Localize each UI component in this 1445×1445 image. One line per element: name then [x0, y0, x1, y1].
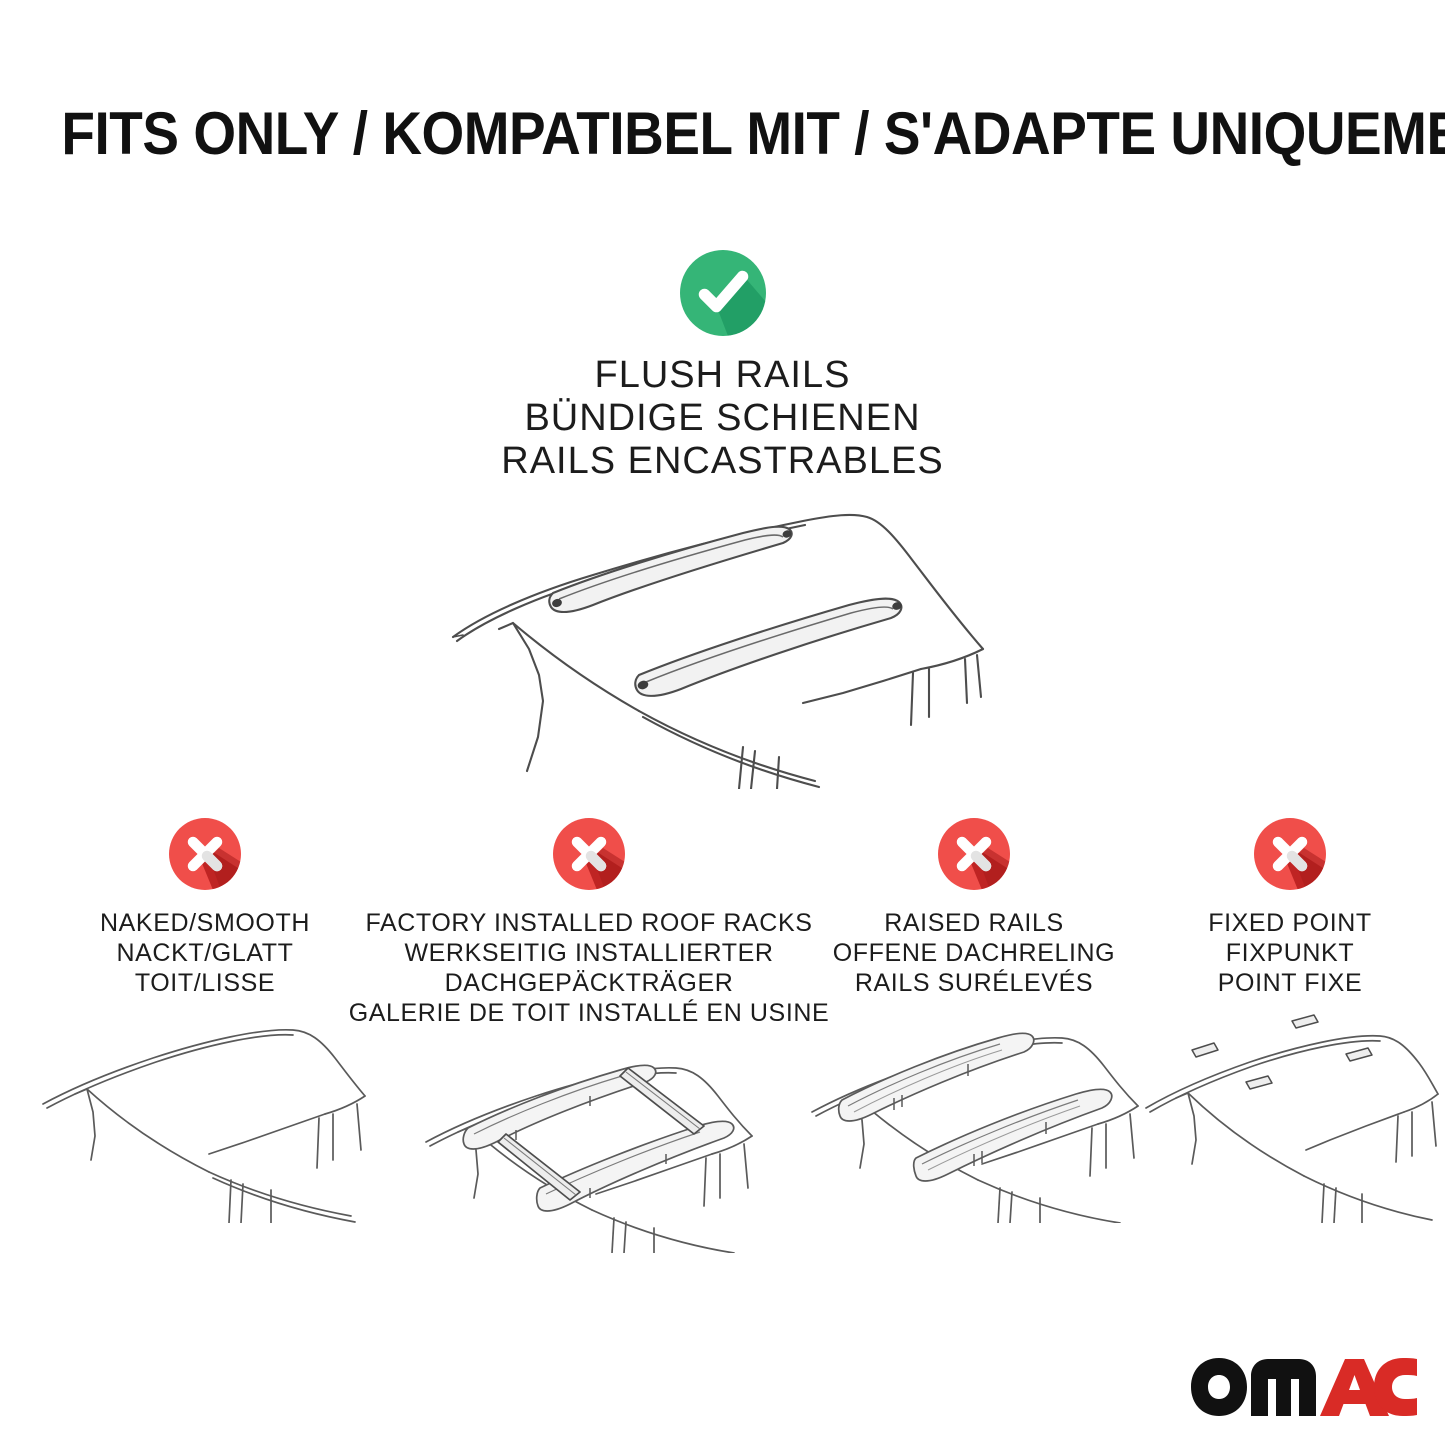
label-line-2: NACKT/GLATT [100, 938, 310, 968]
compatible-label-line-3: RAILS ENCASTRABLES [501, 440, 943, 483]
incompatible-item-raised-rails: RAISED RAILS OFFENE DACHRELING RAILS SUR… [804, 818, 1144, 1223]
compatible-label-line-2: BÜNDIGE SCHIENEN [501, 397, 943, 440]
label-line-4: GALERIE DE TOIT INSTALLÉ EN USINE [349, 998, 830, 1028]
incompatible-labels-naked-smooth: NAKED/SMOOTH NACKT/GLATT TOIT/LISSE [100, 908, 310, 998]
label-line-3: TOIT/LISSE [100, 968, 310, 998]
incompatible-labels-factory-roof-racks: FACTORY INSTALLED ROOF RACKS WERKSEITIG … [349, 908, 830, 1028]
label-line-2: FIXPUNKT [1208, 938, 1372, 968]
check-circle-icon [680, 250, 766, 336]
car-roof-naked-smooth-illustration [35, 1008, 375, 1223]
label-line-1: FACTORY INSTALLED ROOF RACKS [349, 908, 830, 938]
logo-letter-m [1251, 1359, 1316, 1416]
label-line-2: WERKSEITIG INSTALLIERTER [349, 938, 830, 968]
car-roof-fixed-point-illustration [1140, 1008, 1440, 1223]
logo-letter-o [1191, 1358, 1247, 1416]
incompatible-item-naked-smooth: NAKED/SMOOTH NACKT/GLATT TOIT/LISSE [30, 818, 380, 1223]
car-roof-factory-roof-racks-illustration [412, 1038, 767, 1253]
compatible-section: FLUSH RAILS BÜNDIGE SCHIENEN RAILS ENCAS… [0, 250, 1445, 789]
label-line-3: RAILS SURÉLEVÉS [833, 968, 1115, 998]
label-line-3: DACHGEPÄCKTRÄGER [349, 968, 830, 998]
compatible-label-line-1: FLUSH RAILS [501, 354, 943, 397]
car-roof-flush-rails-illustration [443, 489, 1003, 789]
cross-circle-icon [169, 818, 241, 890]
cross-circle-icon [1254, 818, 1326, 890]
cross-circle-icon [553, 818, 625, 890]
incompatible-item-factory-roof-racks: FACTORY INSTALLED ROOF RACKS WERKSEITIG … [374, 818, 804, 1253]
compatible-labels: FLUSH RAILS BÜNDIGE SCHIENEN RAILS ENCAS… [501, 354, 943, 483]
incompatible-section: NAKED/SMOOTH NACKT/GLATT TOIT/LISSE [0, 818, 1445, 1253]
infographic-page: FITS ONLY / KOMPATIBEL MIT / S'ADAPTE UN… [0, 0, 1445, 1445]
label-line-1: NAKED/SMOOTH [100, 908, 310, 938]
incompatible-item-fixed-point: FIXED POINT FIXPUNKT POINT FIXE [1140, 818, 1440, 1223]
incompatible-labels-raised-rails: RAISED RAILS OFFENE DACHRELING RAILS SUR… [833, 908, 1115, 998]
label-line-3: POINT FIXE [1208, 968, 1372, 998]
car-roof-raised-rails-illustration [802, 1008, 1147, 1223]
page-title: FITS ONLY / KOMPATIBEL MIT / S'ADAPTE UN… [61, 104, 1383, 164]
label-line-1: RAISED RAILS [833, 908, 1115, 938]
label-line-1: FIXED POINT [1208, 908, 1372, 938]
label-line-2: OFFENE DACHRELING [833, 938, 1115, 968]
cross-circle-icon [938, 818, 1010, 890]
incompatible-labels-fixed-point: FIXED POINT FIXPUNKT POINT FIXE [1208, 908, 1372, 998]
omac-logo [1188, 1354, 1420, 1420]
